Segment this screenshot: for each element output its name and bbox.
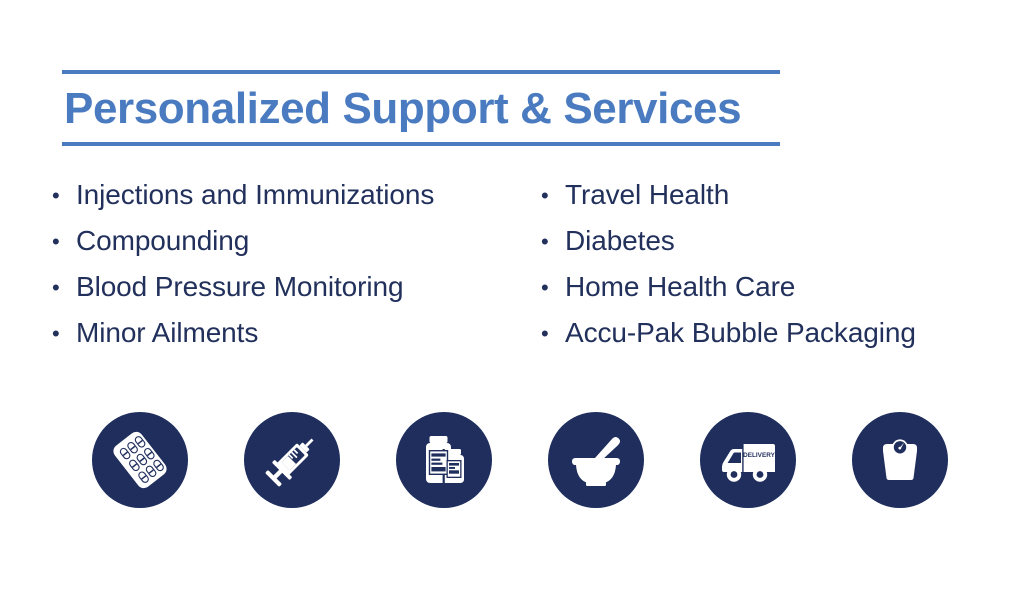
page-title: Personalized Support & Services [62, 78, 780, 140]
list-item: • Travel Health [541, 178, 1002, 224]
list-item: • Diabetes [541, 224, 1002, 270]
list-item: • Injections and Immunizations [52, 178, 541, 224]
pill-bottles-icon [396, 412, 492, 508]
syringe-icon [244, 412, 340, 508]
blister-pack-icon [92, 412, 188, 508]
weight-scale-icon [852, 412, 948, 508]
service-label: Accu-Pak Bubble Packaging [565, 316, 916, 350]
mortar-pestle-icon [548, 412, 644, 508]
title-rule-top [62, 70, 780, 74]
bullet-icon: • [52, 185, 62, 207]
list-item: • Home Health Care [541, 270, 1002, 316]
bullet-icon: • [52, 231, 62, 253]
services-column-right: • Travel Health • Diabetes • Home Health… [541, 178, 1002, 362]
service-label: Home Health Care [565, 270, 795, 304]
bullet-icon: • [541, 185, 551, 207]
service-label: Diabetes [565, 224, 675, 258]
bullet-icon: • [541, 323, 551, 345]
bullet-icon: • [541, 277, 551, 299]
van-delivery-text: DELIVERY [743, 452, 775, 459]
service-label: Minor Ailments [76, 316, 258, 350]
service-label: Travel Health [565, 178, 729, 212]
page-header: Personalized Support & Services [62, 70, 780, 146]
list-item: • Compounding [52, 224, 541, 270]
delivery-van-icon: DELIVERY [700, 412, 796, 508]
bullet-icon: • [541, 231, 551, 253]
list-item: • Minor Ailments [52, 316, 541, 362]
list-item: • Blood Pressure Monitoring [52, 270, 541, 316]
service-label: Compounding [76, 224, 249, 258]
service-label: Blood Pressure Monitoring [76, 270, 403, 304]
list-item: • Accu-Pak Bubble Packaging [541, 316, 1002, 362]
services-list: • Injections and Immunizations • Compoun… [52, 178, 1002, 362]
services-column-left: • Injections and Immunizations • Compoun… [52, 178, 541, 362]
service-label: Injections and Immunizations [76, 178, 434, 212]
title-rule-bottom [62, 142, 780, 146]
bullet-icon: • [52, 323, 62, 345]
service-icon-row: DELIVERY [92, 412, 948, 508]
bullet-icon: • [52, 277, 62, 299]
